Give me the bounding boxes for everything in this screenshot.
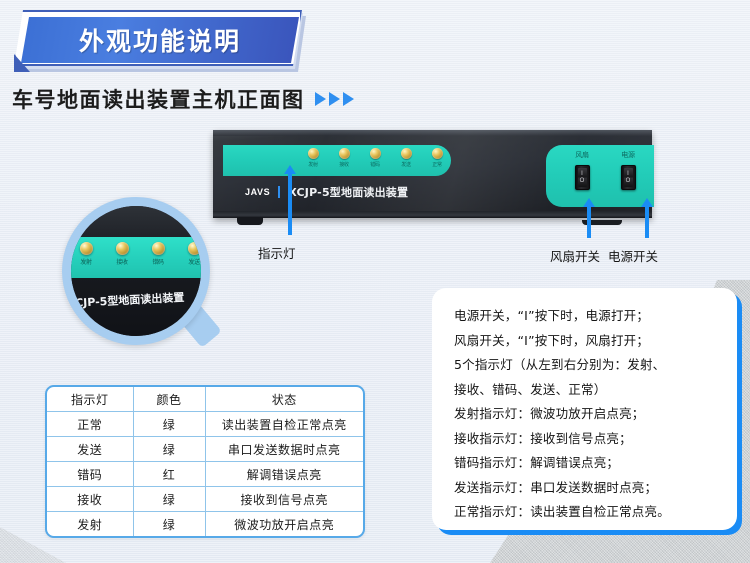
table-header-cell: 状态 [205, 387, 363, 412]
led-label: 错码 [365, 161, 385, 168]
info-line: 发射指示灯：微波功放开启点亮； [454, 402, 727, 427]
table-cell-color: 绿 [133, 487, 205, 512]
table-cell-status: 串口发送数据时点亮 [205, 437, 363, 462]
magnifier-callout: 发射 接收 错码 发送 [62, 197, 247, 362]
led-indicator: 发送 [396, 148, 416, 168]
table-cell-status: 微波功放开启点亮 [205, 512, 363, 537]
led-indicator: 错码 [365, 148, 385, 168]
table-header-cell: 颜色 [133, 387, 205, 412]
table-cell-indicator: 错码 [47, 462, 133, 487]
table-header-cell: 指示灯 [47, 387, 133, 412]
magnified-led-label: 接收 [111, 257, 133, 266]
magnified-led-row: 发射 接收 错码 发送 [75, 242, 201, 266]
magnified-led: 发射 [75, 242, 97, 266]
info-line: 错码指示灯：解调错误点亮； [454, 451, 727, 476]
callout-power-switch: 电源开关 [639, 198, 719, 260]
table-cell-color: 绿 [133, 437, 205, 462]
table-cell-indicator: 接收 [47, 487, 133, 512]
magnifier-lens: 发射 接收 错码 发送 [71, 206, 201, 336]
fan-switch-caption: 风扇 [562, 150, 602, 160]
led-dot-icon [116, 242, 129, 255]
fan-switch-group[interactable]: 风扇 I O [562, 150, 602, 190]
table-row: 发送 绿 串口发送数据时点亮 [47, 437, 363, 462]
subtitle-row: 车号地面读出装置主机正面图 [12, 84, 354, 114]
table-cell-indicator: 发送 [47, 437, 133, 462]
table-cell-status: 解调错误点亮 [205, 462, 363, 487]
table-cell-color: 绿 [133, 412, 205, 437]
callout-label: 电源开关 [608, 246, 658, 265]
fan-rocker-switch[interactable]: I O [575, 165, 590, 190]
brand-divider [278, 186, 280, 198]
info-line: 5个指示灯（从左到右分别为：发射、 [454, 353, 727, 378]
table-cell-color: 红 [133, 462, 205, 487]
info-line: 正常指示灯：读出装置自检正常点亮。 [454, 500, 727, 525]
brand-name: JAVS [245, 187, 270, 197]
info-line-list: 电源开关，“I”按下时，电源打开； 风扇开关，“I”按下时，风扇打开； 5个指示… [454, 304, 727, 525]
header-banner: 外观功能说明 [14, 10, 314, 72]
banner-frame: 外观功能说明 [14, 10, 302, 66]
switch-on-mark: I [622, 171, 635, 177]
info-line: 电源开关，“I”按下时，电源打开； [454, 304, 727, 329]
magnified-led: 接收 [111, 242, 133, 266]
led-dot-icon [188, 242, 201, 255]
device-top-edge [213, 130, 652, 136]
power-switch-group[interactable]: 电源 I O [608, 150, 648, 190]
led-dot-icon [370, 148, 381, 159]
callout-stem [288, 173, 292, 235]
callout-label: 指示灯 [258, 243, 296, 262]
arrow-right-icon [329, 92, 340, 106]
table-row: 正常 绿 读出装置自检正常点亮 [47, 412, 363, 437]
led-dot-icon [401, 148, 412, 159]
led-dot-icon [432, 148, 443, 159]
table-cell-status: 读出装置自检正常点亮 [205, 412, 363, 437]
triple-arrow-icon [315, 92, 354, 106]
table-row: 发射 绿 微波功放开启点亮 [47, 512, 363, 537]
led-dot-icon [339, 148, 350, 159]
led-dot-icon [80, 242, 93, 255]
info-line: 风扇开关，“I”按下时，风扇打开； [454, 329, 727, 354]
page-root: 外观功能说明 车号地面读出装置主机正面图 发射 接收 [0, 0, 750, 563]
callout-stem [645, 206, 649, 238]
table-row: 错码 红 解调错误点亮 [47, 462, 363, 487]
table-cell-indicator: 发射 [47, 512, 133, 537]
callout-indicator-lights: 指示灯 [282, 165, 352, 260]
switch-off-mark: O [576, 178, 589, 184]
magnified-led-label: 错码 [147, 257, 169, 266]
led-dot-icon [152, 242, 165, 255]
callout-stem [587, 206, 591, 238]
switch-off-mark: O [622, 178, 635, 184]
magnified-led-label: 发送 [183, 257, 201, 266]
indicator-status-table: 指示灯 颜色 状态 正常 绿 读出装置自检正常点亮 发送 绿 串口发送数据时点亮… [45, 385, 365, 538]
info-line: 发送指示灯：串口发送数据时点亮； [454, 476, 727, 501]
callout-label: 风扇开关 [550, 246, 600, 265]
magnified-panel-top [71, 206, 201, 237]
magnifier-zoom-content: 发射 接收 错码 发送 [71, 206, 201, 336]
magnifier-ring: 发射 接收 错码 发送 [62, 197, 210, 345]
info-line: 接收指示灯：接收到信号点亮； [454, 427, 727, 452]
info-line: 接收、错码、发送、正常） [454, 378, 727, 403]
magnified-led-label: 发射 [75, 257, 97, 266]
table-row: 接收 绿 接收到信号点亮 [47, 487, 363, 512]
switch-on-mark: I [576, 171, 589, 177]
table: 指示灯 颜色 状态 正常 绿 读出装置自检正常点亮 发送 绿 串口发送数据时点亮… [47, 387, 363, 536]
arrow-right-icon [343, 92, 354, 106]
operation-info-panel: 电源开关，“I”按下时，电源打开； 风扇开关，“I”按下时，风扇打开； 5个指示… [432, 288, 737, 530]
led-label: 发送 [396, 161, 416, 168]
page-subtitle: 车号地面读出装置主机正面图 [12, 84, 305, 114]
table-cell-status: 接收到信号点亮 [205, 487, 363, 512]
table-header-row: 指示灯 颜色 状态 [47, 387, 363, 412]
arrow-right-icon [315, 92, 326, 106]
power-switch-caption: 电源 [608, 150, 648, 160]
table-cell-indicator: 正常 [47, 412, 133, 437]
banner-title: 外观功能说明 [79, 22, 241, 58]
magnified-led: 错码 [147, 242, 169, 266]
power-rocker-switch[interactable]: I O [621, 165, 636, 190]
magnified-led: 发送 [183, 242, 201, 266]
banner-fill: 外观功能说明 [21, 17, 299, 63]
led-dot-icon [308, 148, 319, 159]
table-cell-color: 绿 [133, 512, 205, 537]
led-indicator: 正常 [427, 148, 447, 168]
led-label: 正常 [427, 161, 447, 168]
